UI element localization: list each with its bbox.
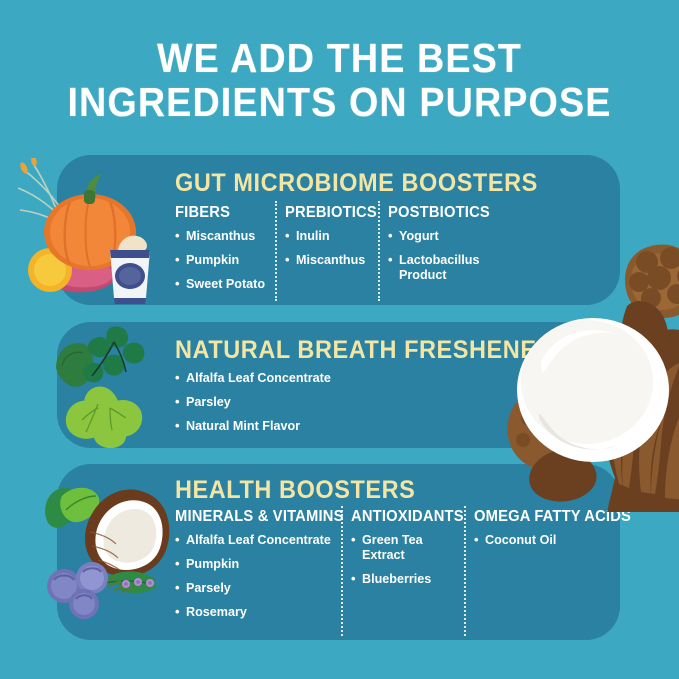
panel-natural-breath-fresheners: NATURAL BREATH FRESHENERS Alfalfa Leaf C… (57, 322, 620, 448)
list-item: Inulin (285, 229, 385, 244)
list-item: Sweet Potato (175, 277, 283, 292)
page-title-line-1: WE ADD THE BEST (27, 36, 652, 80)
column-heading: FIBERS (175, 204, 278, 222)
ingredient-list: Miscanthus Pumpkin Sweet Potato (175, 229, 283, 292)
panel-title: HEALTH BOOSTERS (175, 476, 415, 505)
list-item: Parsely (175, 581, 340, 596)
list-item: Natural Mint Flavor (175, 419, 505, 434)
ingredient-list: Green Tea Extract Blueberries (351, 533, 463, 587)
column-prebiotics: PREBIOTICS Inulin Miscanthus (285, 204, 385, 277)
list-item: Rosemary (175, 605, 340, 620)
column-divider (275, 201, 277, 301)
column-minerals-vitamins: MINERALS & VITAMINS Alfalfa Leaf Concent… (175, 508, 340, 629)
page-title: WE ADD THE BEST INGREDIENTS ON PURPOSE (0, 36, 679, 124)
list-item: Green Tea Extract (351, 533, 441, 563)
ingredient-list: Inulin Miscanthus (285, 229, 385, 268)
column-divider (341, 506, 343, 636)
ingredient-list: Alfalfa Leaf Concentrate Parsley Natural… (175, 371, 505, 434)
list-item: Miscanthus (285, 253, 385, 268)
list-item: Lactobacillus Product (388, 253, 493, 283)
column-heading: PREBIOTICS (285, 204, 380, 222)
column-heading: POSTBIOTICS (388, 204, 521, 222)
list-item: Blueberries (351, 572, 441, 587)
column-divider (464, 506, 466, 636)
list-item: Parsley (175, 395, 505, 410)
panel-columns: MINERALS & VITAMINS Alfalfa Leaf Concent… (175, 508, 610, 640)
list-item: Pumpkin (175, 253, 283, 268)
column-postbiotics: POSTBIOTICS Yogurt Lactobacillus Product (388, 204, 528, 292)
panel-columns: Alfalfa Leaf Concentrate Parsley Natural… (175, 371, 610, 448)
column-omega-fatty-acids: OMEGA FATTY ACIDS Coconut Oil (474, 508, 634, 557)
panel-title: GUT MICROBIOME BOOSTERS (175, 169, 538, 198)
ingredient-list: Alfalfa Leaf Concentrate Pumpkin Parsely… (175, 533, 340, 620)
page-title-line-2: INGREDIENTS ON PURPOSE (27, 80, 652, 124)
list-item: Pumpkin (175, 557, 340, 572)
column-heading: OMEGA FATTY ACIDS (474, 508, 626, 526)
column-heading: MINERALS & VITAMINS (175, 508, 332, 526)
column-breath-fresheners: Alfalfa Leaf Concentrate Parsley Natural… (175, 371, 505, 443)
ingredient-list: Yogurt Lactobacillus Product (388, 229, 528, 283)
column-heading: ANTIOXIDANTS (351, 508, 457, 526)
list-item: Yogurt (388, 229, 493, 244)
ingredient-list: Coconut Oil (474, 533, 634, 548)
column-divider (378, 201, 380, 301)
panel-gut-microbiome-boosters: GUT MICROBIOME BOOSTERS FIBERS Miscanthu… (57, 155, 620, 305)
list-item: Miscanthus (175, 229, 283, 244)
column-fibers: FIBERS Miscanthus Pumpkin Sweet Potato (175, 204, 283, 301)
list-item: Alfalfa Leaf Concentrate (175, 371, 505, 386)
column-antioxidants: ANTIOXIDANTS Green Tea Extract Blueberri… (351, 508, 463, 596)
panel-title: NATURAL BREATH FRESHENERS (175, 336, 570, 365)
list-item: Coconut Oil (474, 533, 624, 548)
panel-health-boosters: HEALTH BOOSTERS MINERALS & VITAMINS Alfa… (57, 464, 620, 640)
list-item: Alfalfa Leaf Concentrate (175, 533, 340, 548)
panel-columns: FIBERS Miscanthus Pumpkin Sweet Potato P… (175, 204, 610, 305)
